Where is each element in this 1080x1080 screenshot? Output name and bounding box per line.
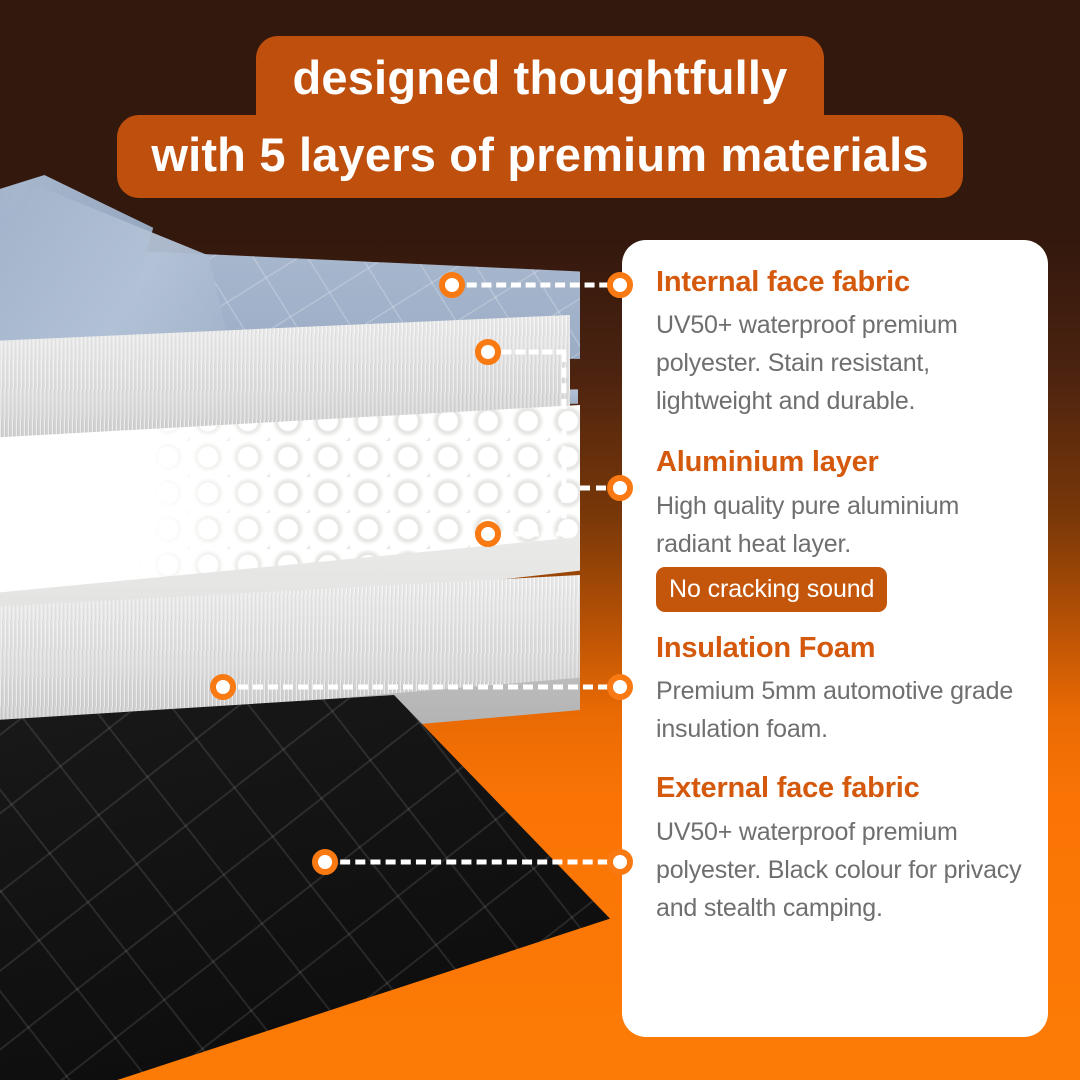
layer-heading: External face fabric	[656, 772, 1024, 804]
black-quilted-external-fabric	[0, 695, 610, 1080]
layer-description: UV50+ waterproof premium polyester. Stai…	[656, 306, 1024, 420]
title-line-1: designed thoughtfully	[256, 36, 823, 117]
layer-detail-internal-face-fabric: Internal face fabric UV50+ waterproof pr…	[656, 266, 1024, 420]
title-line-2: with 5 layers of premium materials	[117, 115, 962, 198]
layer-heading: Aluminium layer	[656, 446, 1024, 478]
layer-detail-aluminium-layer: Aluminium layer High quality pure alumin…	[656, 446, 1024, 611]
layer-heading: Insulation Foam	[656, 632, 1024, 664]
layer-detail-external-face-fabric: External face fabric UV50+ waterproof pr…	[656, 772, 1024, 926]
layer-description: Premium 5mm automotive grade insulation …	[656, 672, 1024, 748]
title-banner: designed thoughtfully with 5 layers of p…	[0, 36, 1080, 198]
layer-heading: Internal face fabric	[656, 266, 1024, 298]
spacer	[656, 614, 1024, 632]
layer-description: High quality pure aluminium radiant heat…	[656, 487, 1024, 563]
layer-detail-insulation-foam: Insulation Foam Premium 5mm automotive g…	[656, 632, 1024, 748]
infographic-canvas: Internal face fabric UV50+ waterproof pr…	[0, 0, 1080, 1080]
spacer	[656, 422, 1024, 446]
layer-description: UV50+ waterproof premium polyester. Blac…	[656, 813, 1024, 927]
layer-stack-illustration	[0, 175, 710, 1075]
no-cracking-sound-badge: No cracking sound	[656, 567, 887, 612]
spacer	[656, 750, 1024, 772]
layer-details-card: Internal face fabric UV50+ waterproof pr…	[622, 240, 1048, 1037]
